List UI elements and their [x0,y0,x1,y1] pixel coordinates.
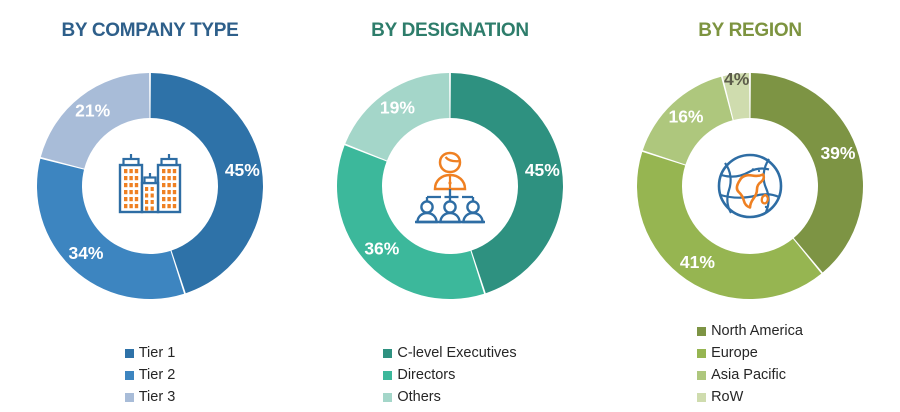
survey-breakdown-infographic: BY COMPANY TYPE 45%34%21% [0,0,900,412]
legend-item[interactable]: Tier 1 [125,342,176,364]
legend-item[interactable]: Tier 2 [125,364,176,386]
slice-percentage-label: 4% [724,69,750,89]
legend-item[interactable]: C-level Executives [383,342,516,364]
legend-item[interactable]: Europe [697,342,803,364]
legend-region: North AmericaEuropeAsia PacificRoW [600,320,900,408]
legend-item[interactable]: Others [383,386,516,408]
slice-percentage-label: 16% [668,106,703,126]
legend-item-label: Europe [711,345,758,361]
office-buildings-icon [109,145,191,227]
globe-africa-icon [709,145,791,227]
legend-item-label: Directors [397,367,455,383]
slice-percentage-label: 36% [364,239,399,259]
legend-item-label: North America [711,323,803,339]
legend-color-swatch [697,349,706,358]
donut-chart-company-type: 45%34%21% [20,56,280,316]
legend-item-label: Others [397,389,441,405]
legend-color-swatch [383,371,392,380]
legend-color-swatch [125,393,134,402]
org-chart-people-icon [409,145,491,227]
legend-item[interactable]: RoW [697,386,803,408]
panel-region: BY REGION 39%41%16%4% [600,0,900,412]
slice-percentage-label: 21% [75,101,110,121]
legend-color-swatch [125,349,134,358]
legend-item-label: Tier 1 [139,345,176,361]
legend-color-swatch [697,371,706,380]
legend-designation: C-level ExecutivesDirectorsOthers [300,342,600,408]
legend-item[interactable]: Asia Pacific [697,364,803,386]
slice-percentage-label: 34% [68,243,103,263]
panel-title-designation: BY DESIGNATION [300,20,600,42]
panel-title-company-type: BY COMPANY TYPE [0,20,300,42]
legend-item-label: RoW [711,389,743,405]
legend-item-label: Asia Pacific [711,367,786,383]
legend-color-swatch [125,371,134,380]
legend-color-swatch [383,393,392,402]
slice-percentage-label: 19% [380,97,415,117]
legend-company-type: Tier 1Tier 2Tier 3 [0,342,300,408]
donut-chart-designation: 45%36%19% [320,56,580,316]
slice-percentage-label: 41% [680,252,715,272]
slice-percentage-label: 45% [525,160,560,180]
legend-item-label: Tier 3 [139,389,176,405]
legend-item[interactable]: North America [697,320,803,342]
legend-item[interactable]: Directors [383,364,516,386]
panel-title-region: BY REGION [600,20,900,42]
legend-item-label: Tier 2 [139,367,176,383]
legend-item[interactable]: Tier 3 [125,386,176,408]
legend-color-swatch [697,393,706,402]
legend-color-swatch [697,327,706,336]
legend-color-swatch [383,349,392,358]
legend-item-label: C-level Executives [397,345,516,361]
donut-chart-region: 39%41%16%4% [620,56,880,316]
slice-percentage-label: 39% [820,143,855,163]
slice-percentage-label: 45% [225,160,260,180]
panel-company-type: BY COMPANY TYPE 45%34%21% [0,0,300,412]
panel-designation: BY DESIGNATION 45%36%19% [300,0,600,412]
